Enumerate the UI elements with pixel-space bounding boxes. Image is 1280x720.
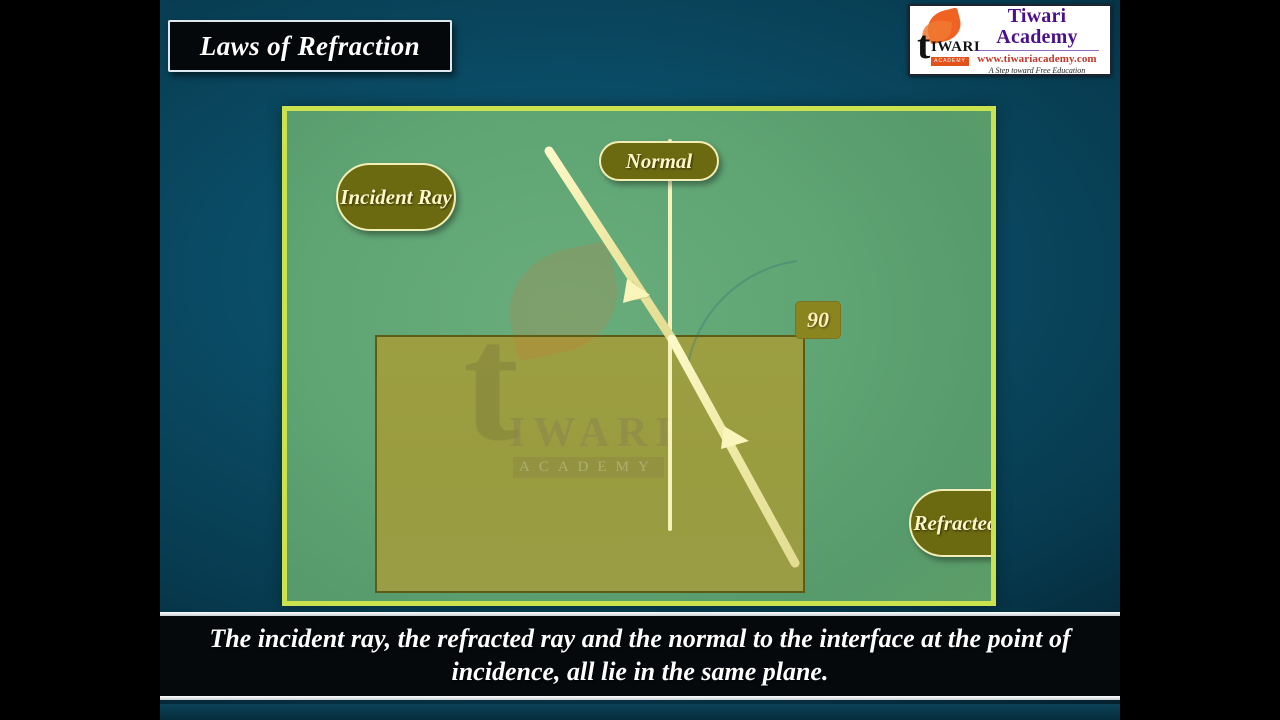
caption-text: The incident ray, the refracted ray and … xyxy=(160,623,1120,689)
logo-mark-word: IWARI xyxy=(931,39,980,56)
logo-mark-band: ACADEMY xyxy=(931,57,969,66)
pillarbox-left xyxy=(0,0,160,720)
diagram-frame: t IWARI ACADEMY xyxy=(282,106,996,606)
slide-stage: Laws of Refraction t IWARI ACADEMY Tiwar… xyxy=(0,0,1280,720)
refracted-ray-line xyxy=(672,339,795,563)
label-right-angle-text: 90 xyxy=(807,307,829,333)
caption-banner: The incident ray, the refracted ray and … xyxy=(160,612,1120,704)
brand-url: www.tiwariacademy.com xyxy=(969,53,1105,65)
slide-content: Laws of Refraction t IWARI ACADEMY Tiwar… xyxy=(160,0,1120,720)
leaf-logo-icon: t IWARI ACADEMY xyxy=(915,9,967,71)
label-incident-ray-text: Incident Ray xyxy=(340,186,451,209)
label-normal-text: Normal xyxy=(626,150,693,173)
brand-name: Tiwari Academy xyxy=(969,6,1105,48)
caption-box: The incident ray, the refracted ray and … xyxy=(160,616,1120,696)
brand-tagline: A Step toward Free Education xyxy=(969,66,1105,75)
label-refracted-ray: Refracted Ray xyxy=(909,489,991,557)
brand-divider xyxy=(975,50,1099,51)
label-normal: Normal xyxy=(599,141,719,181)
logo-mark-letter: t xyxy=(917,25,930,65)
label-right-angle: 90 xyxy=(795,301,841,339)
refraction-diagram: t IWARI ACADEMY xyxy=(287,111,991,601)
pillarbox-right xyxy=(1120,0,1280,720)
page-title: Laws of Refraction xyxy=(200,31,420,62)
brand-logo: t IWARI ACADEMY Tiwari Academy www.tiwar… xyxy=(908,4,1112,76)
caption-rule-bottom xyxy=(160,696,1120,700)
label-incident-ray: Incident Ray xyxy=(336,163,456,231)
right-angle-arc xyxy=(687,261,797,369)
slide-title-plaque: Laws of Refraction xyxy=(168,20,452,72)
label-refracted-ray-text: Refracted Ray xyxy=(913,512,991,535)
brand-logo-text: Tiwari Academy www.tiwariacademy.com A S… xyxy=(967,6,1105,75)
bottom-strip xyxy=(160,704,1120,720)
